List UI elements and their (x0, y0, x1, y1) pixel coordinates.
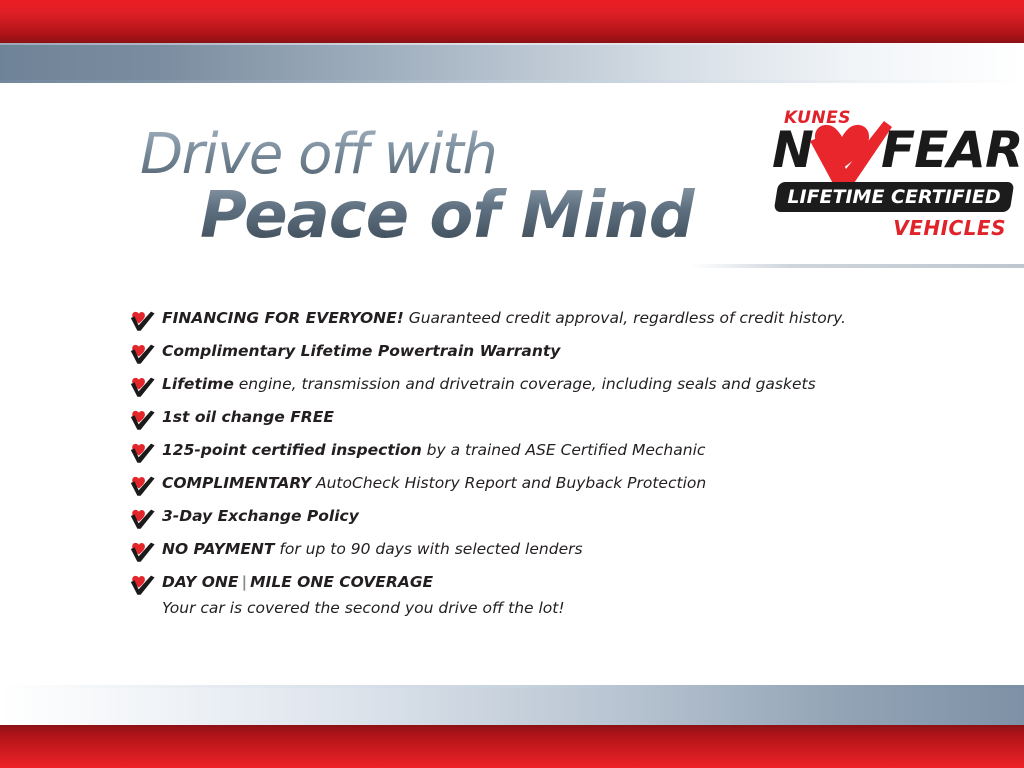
benefits-list: FINANCING FOR EVERYONE! Guaranteed credi… (130, 308, 960, 628)
list-item-separator: | (238, 573, 250, 591)
list-item-strong: DAY ONE (162, 573, 238, 591)
promo-banner: Drive off with Peace of Mind KUNES N FEA… (0, 0, 1024, 768)
top-gray-band (0, 43, 1024, 83)
headline: Drive off with Peace of Mind (140, 126, 760, 250)
heart-check-icon (130, 310, 156, 332)
bottom-red-band (0, 725, 1024, 768)
list-item: FINANCING FOR EVERYONE! Guaranteed credi… (130, 308, 960, 332)
logo-certified-bar-text: LIFETIME CERTIFIED (776, 182, 1012, 212)
list-item-strong: NO PAYMENT (162, 540, 274, 558)
logo-nofear-wordmark: N FEAR (772, 125, 1014, 177)
list-item: 1st oil change FREE (130, 407, 960, 431)
list-item-text: Lifetime engine, transmission and drivet… (162, 374, 960, 395)
list-item: 3-Day Exchange Policy (130, 506, 960, 530)
list-item-text: 3-Day Exchange Policy (162, 506, 960, 527)
list-item-strong: Complimentary Lifetime Powertrain Warran… (162, 342, 560, 360)
heart-check-mark-icon (806, 121, 892, 189)
list-item-strong: FINANCING FOR EVERYONE! (162, 309, 404, 327)
list-item: COMPLIMENTARY AutoCheck History Report a… (130, 473, 960, 497)
headline-line-1: Drive off with (140, 126, 760, 184)
list-item-text: 1st oil change FREE (162, 407, 960, 428)
list-item-normal: AutoCheck History Report and Buyback Pro… (311, 474, 706, 492)
list-item-strong: 125-point certified inspection (162, 441, 422, 459)
heart-check-icon (130, 343, 156, 365)
top-red-band (0, 0, 1024, 43)
list-item-text: NO PAYMENT for up to 90 days with select… (162, 539, 960, 560)
list-item-text: 125-point certified inspection by a trai… (162, 440, 960, 461)
list-item-text: Complimentary Lifetime Powertrain Warran… (162, 341, 960, 362)
list-item: Lifetime engine, transmission and drivet… (130, 374, 960, 398)
logo-vehicles-text: VEHICLES (893, 216, 1006, 240)
heart-check-icon (130, 541, 156, 563)
list-item-strong: 3-Day Exchange Policy (162, 507, 359, 525)
heart-check-icon (130, 574, 156, 596)
list-item-text: DAY ONE|MILE ONE COVERAGE (162, 572, 960, 593)
bottom-gray-band (0, 685, 1024, 725)
list-item-strong: Lifetime (162, 375, 234, 393)
list-item-strong: COMPLIMENTARY (162, 474, 311, 492)
heart-check-icon (130, 376, 156, 398)
list-item-normal: for up to 90 days with selected lenders (274, 540, 582, 558)
list-item-normal: by a trained ASE Certified Mechanic (422, 441, 706, 459)
list-item-text: COMPLIMENTARY AutoCheck History Report a… (162, 473, 960, 494)
heart-check-icon (130, 442, 156, 464)
heart-check-icon (130, 475, 156, 497)
list-item-normal: engine, transmission and drivetrain cove… (234, 375, 816, 393)
heart-check-icon (130, 409, 156, 431)
logo-word-fear: FEAR (881, 125, 1023, 175)
list-item-strong-2: MILE ONE COVERAGE (250, 573, 433, 591)
header-divider (690, 264, 1024, 268)
list-item-subline: Your car is covered the second you drive… (162, 597, 960, 619)
list-item: Complimentary Lifetime Powertrain Warran… (130, 341, 960, 365)
list-item: NO PAYMENT for up to 90 days with select… (130, 539, 960, 563)
list-item-normal: Guaranteed credit approval, regardless o… (404, 309, 846, 327)
kunes-no-fear-logo: KUNES N FEAR LIFETIME CERTIFIED VEHICLES (772, 108, 1014, 246)
list-item-text: FINANCING FOR EVERYONE! Guaranteed credi… (162, 308, 960, 329)
heart-check-icon (130, 508, 156, 530)
logo-certified-bar: LIFETIME CERTIFIED (774, 182, 1015, 212)
list-item: DAY ONE|MILE ONE COVERAGE Your car is co… (130, 572, 960, 619)
list-item-strong: 1st oil change FREE (162, 408, 334, 426)
headline-line-2: Peace of Mind (200, 182, 760, 250)
list-item: 125-point certified inspection by a trai… (130, 440, 960, 464)
